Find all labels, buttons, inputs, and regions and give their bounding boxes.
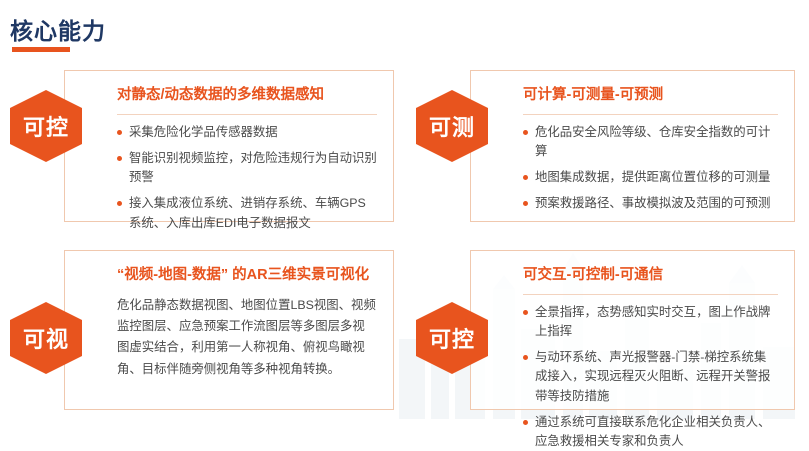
list-item: 智能识别视频监控，对危险违规行为自动识别预警 <box>117 149 377 187</box>
list-item: 全景指挥，态势感知实时交互，图上作战牌上指挥 <box>523 303 778 341</box>
card-3-paragraph: 危化品静态数据视图、地图位置LBS视图、视频监控图层、应急预案工作流图层等多图层… <box>117 295 377 380</box>
capability-card-2: 可计算-可测量-可预测 危化品安全风险等级、仓库安全指数的可计算 地图集成数据，… <box>470 70 795 222</box>
title-underline <box>12 47 70 52</box>
card-4-bullet-list: 全景指挥，态势感知实时交互，图上作战牌上指挥 与动环系统、声光报警器-门禁-梯控… <box>523 303 778 451</box>
capability-grid: 对静态/动态数据的多维数据感知 采集危险化学品传感器数据 智能识别视频监控，对危… <box>0 62 809 417</box>
capability-card-3: “视频-地图-数据” 的AR三维实景可视化 危化品静态数据视图、地图位置LBS视… <box>64 250 394 410</box>
list-item: 预案救援路径、事故模拟波及范围的可预测 <box>523 194 778 213</box>
card-1-heading: 对静态/动态数据的多维数据感知 <box>117 85 377 115</box>
capability-card-4: 可交互-可控制-可通信 全景指挥，态势感知实时交互，图上作战牌上指挥 与动环系统… <box>470 250 795 410</box>
list-item: 接入集成液位系统、进销存系统、车辆GPS系统、入库出库EDI电子数据报文 <box>117 194 377 232</box>
card-2-heading: 可计算-可测量-可预测 <box>523 85 778 115</box>
card-3-heading: “视频-地图-数据” 的AR三维实景可视化 <box>117 265 377 289</box>
list-item: 采集危险化学品传感器数据 <box>117 123 377 142</box>
card-2-bullet-list: 危化品安全风险等级、仓库安全指数的可计算 地图集成数据，提供距离位置位移的可测量… <box>523 123 778 214</box>
list-item: 与动环系统、声光报警器-门禁-梯控系统集成接入，实现远程灭火阻断、远程开关警报带… <box>523 348 778 406</box>
card-4-heading: 可交互-可控制-可通信 <box>523 265 778 295</box>
list-item: 地图集成数据，提供距离位置位移的可测量 <box>523 168 778 187</box>
card-1-bullet-list: 采集危险化学品传感器数据 智能识别视频监控，对危险违规行为自动识别预警 接入集成… <box>117 123 377 233</box>
capability-card-1: 对静态/动态数据的多维数据感知 采集危险化学品传感器数据 智能识别视频监控，对危… <box>64 70 394 222</box>
page-title: 核心能力 <box>10 12 106 46</box>
list-item: 危化品安全风险等级、仓库安全指数的可计算 <box>523 123 778 161</box>
